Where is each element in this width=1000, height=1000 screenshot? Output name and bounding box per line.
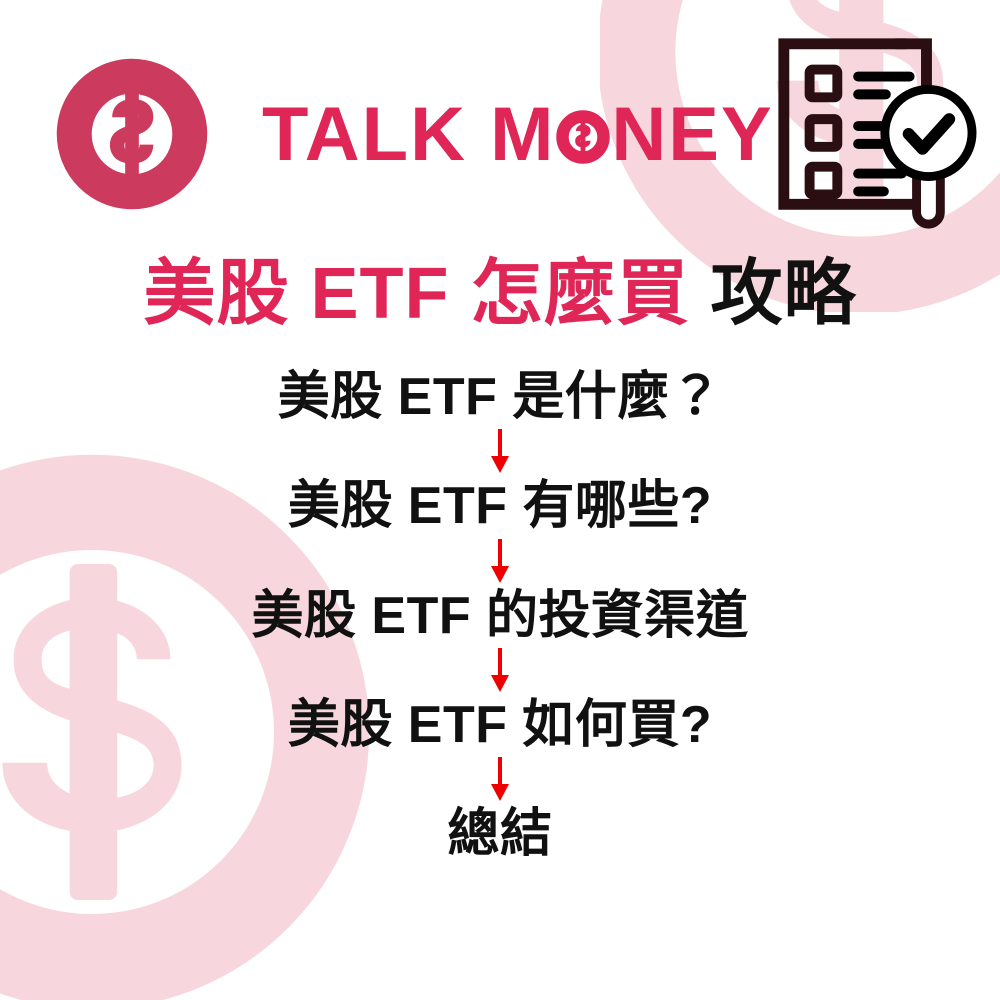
arrow-down-icon: [488, 539, 512, 585]
flow-step-3: 美股 ETF 的投資渠道: [251, 587, 748, 646]
wordmark-part-2: NEY: [611, 97, 773, 173]
arrow-down-icon: [488, 648, 512, 694]
brand-header: TALK M NEY: [0, 0, 1000, 248]
flow-step-2: 美股 ETF 有哪些?: [288, 477, 712, 536]
poster-canvas: TALK M NEY: [0, 0, 1000, 1000]
brand-wordmark: TALK M NEY: [262, 92, 774, 178]
flow-step-4: 美股 ETF 如何買?: [288, 696, 712, 755]
flow-step-1: 美股 ETF 是什麼？: [278, 368, 723, 427]
page-title-accent: 美股 ETF 怎麼買: [143, 254, 689, 334]
dollar-coin-icon: [56, 58, 208, 210]
dollar-coin-icon-inline: [556, 110, 610, 164]
page-title: 美股 ETF 怎麼買 攻略: [0, 256, 1000, 334]
arrow-down-icon: [488, 757, 512, 803]
page-title-plain: 攻略: [711, 254, 857, 334]
checklist-magnifier-check-icon: [762, 28, 980, 236]
outline-flow: 美股 ETF 是什麼？ 美股 ETF 有哪些? 美股 ETF 的投資渠道 美股 …: [0, 368, 1000, 864]
flow-step-5: 總結: [447, 805, 552, 864]
wordmark-part-1: TALK M: [262, 97, 555, 173]
arrow-down-icon: [488, 429, 512, 475]
